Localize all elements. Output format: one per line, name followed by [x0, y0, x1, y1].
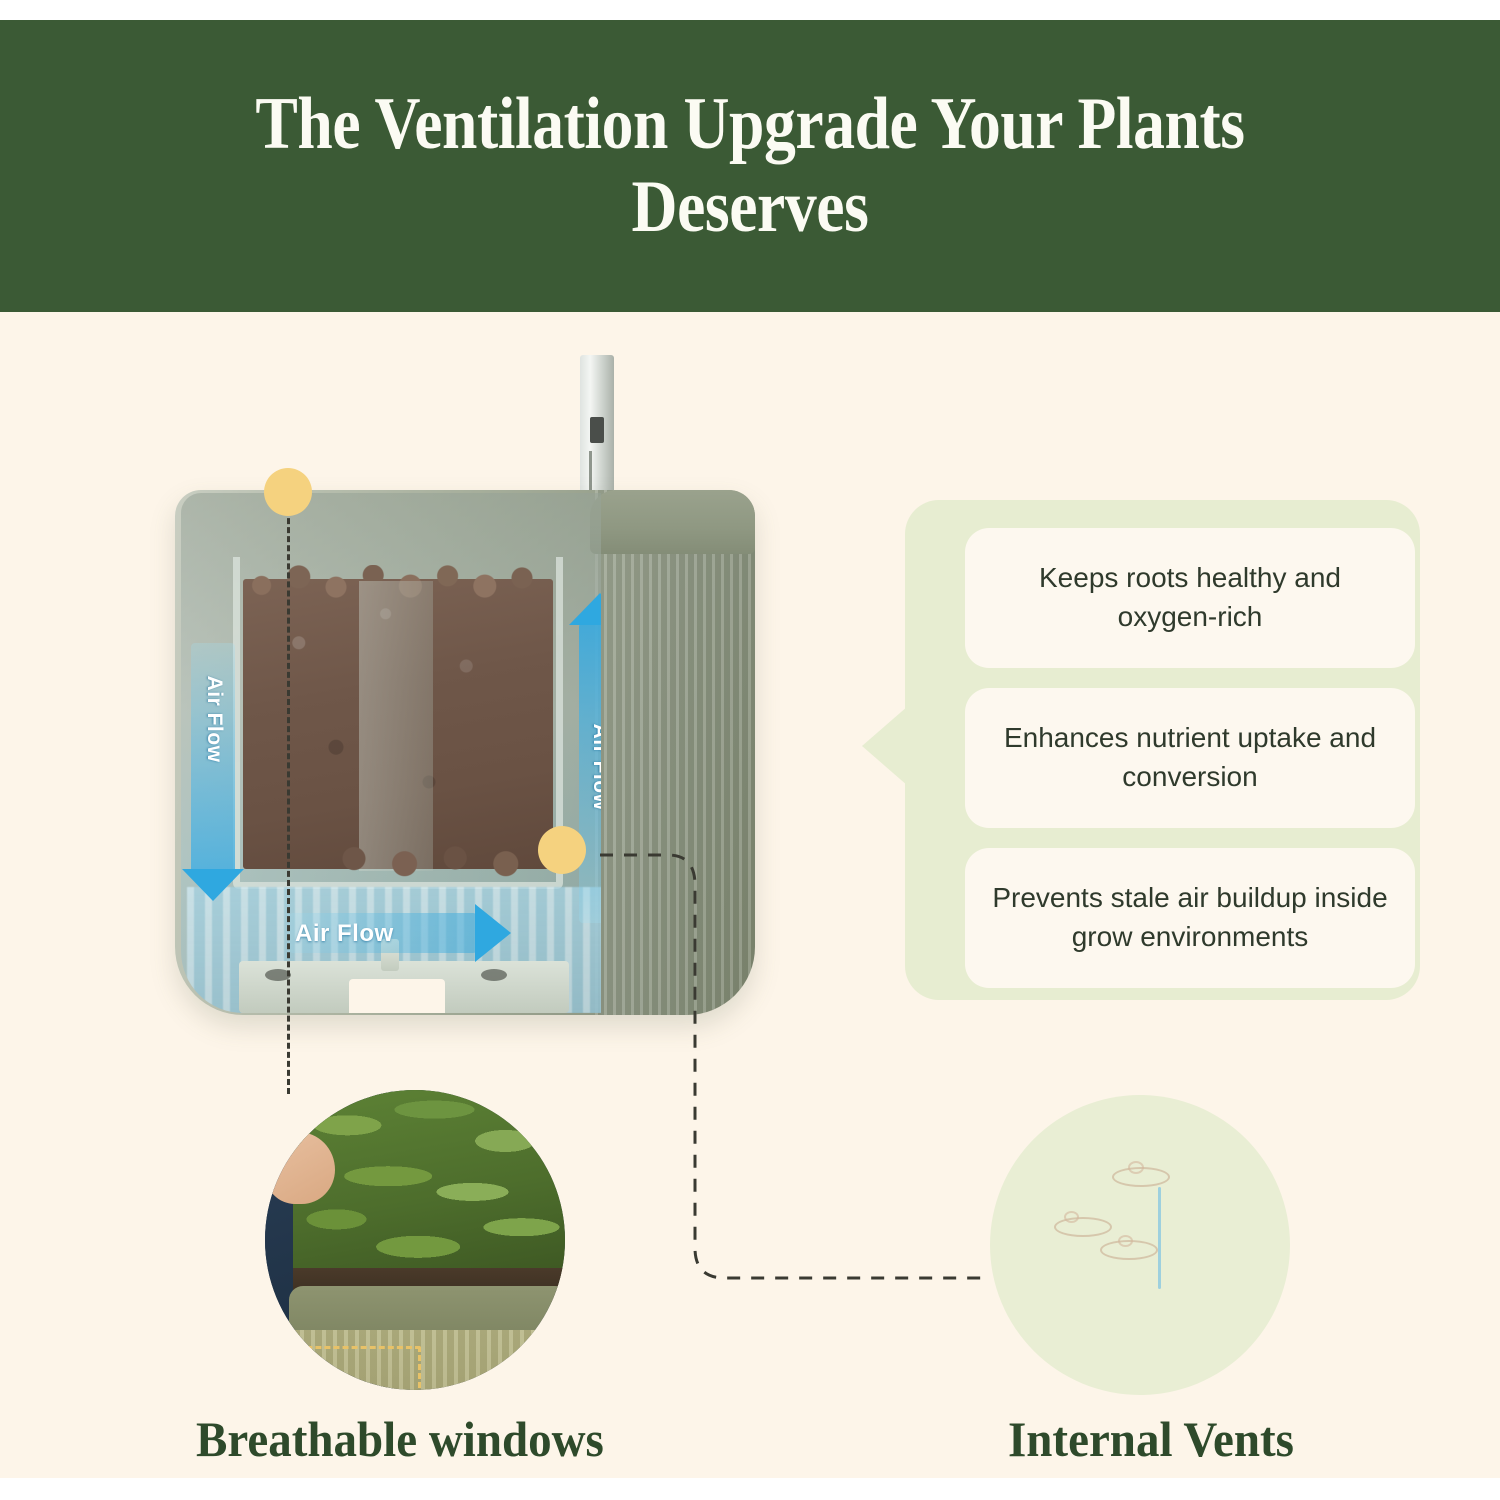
benefit-card-1[interactable]: Keeps roots healthy and oxygen-rich	[965, 528, 1415, 668]
air-flow-arrow-right: Air Flow	[579, 623, 601, 923]
bottom-margin	[0, 1478, 1500, 1500]
inner-liner	[233, 557, 563, 889]
photo-rosemary-foliage	[293, 1090, 565, 1286]
infographic-page: The Ventilation Upgrade Your Plants Dese…	[0, 0, 1500, 1500]
vent-divider-line	[1158, 1187, 1161, 1289]
air-flow-label-left: Air Flow	[202, 644, 226, 794]
breathable-windows-photo	[265, 1090, 565, 1390]
arrow-up-icon	[569, 593, 601, 625]
marker-dot-internal-vents	[538, 826, 586, 874]
planter-rim	[590, 490, 755, 554]
base-notch	[349, 979, 445, 1013]
planter-cutaway-view: Air Flow Air Flow Air Flow	[181, 493, 601, 1013]
caption-breathable-windows: Breathable windows	[196, 1410, 604, 1468]
benefit-card-2-text: Enhances nutrient uptake and conversion	[991, 719, 1389, 796]
planter-rib-texture	[595, 490, 755, 1015]
air-flow-label-right: Air Flow	[588, 686, 601, 848]
callout-pointer-icon	[862, 706, 908, 786]
vent-bubble-icon-3	[1118, 1235, 1133, 1247]
photo-planter-rim	[289, 1286, 565, 1336]
arrow-down-icon	[182, 869, 244, 901]
photo-highlight-box	[265, 1346, 421, 1390]
photo-hand	[265, 1132, 335, 1204]
internal-vents-graphic	[990, 1095, 1290, 1395]
planter-illustration: Air Flow Air Flow Air Flow	[175, 355, 775, 1045]
page-title: The Ventilation Upgrade Your Plants Dese…	[234, 83, 1266, 249]
base-vent-hole-right-icon	[481, 969, 507, 981]
vent-bubble-icon-1	[1128, 1161, 1144, 1174]
vent-bubble-icon-2	[1064, 1211, 1079, 1223]
benefit-card-3-text: Prevents stale air buildup inside grow e…	[991, 879, 1389, 956]
air-flow-arrow-bottom: Air Flow	[289, 913, 477, 953]
connector-breathable-windows	[287, 500, 290, 1094]
vent-opening-icon-2	[1054, 1217, 1112, 1237]
moisture-probe-icon	[580, 355, 614, 505]
benefit-card-1-text: Keeps roots healthy and oxygen-rich	[991, 559, 1389, 636]
arrow-right-icon	[475, 904, 511, 962]
benefit-card-3[interactable]: Prevents stale air buildup inside grow e…	[965, 848, 1415, 988]
air-flow-arrow-left: Air Flow	[191, 643, 235, 873]
benefit-card-2[interactable]: Enhances nutrient uptake and conversion	[965, 688, 1415, 828]
marker-dot-breathable-windows	[264, 468, 312, 516]
air-flow-label-bottom: Air Flow	[295, 920, 394, 948]
header-band: The Ventilation Upgrade Your Plants Dese…	[0, 20, 1500, 312]
caption-internal-vents: Internal Vents	[1008, 1410, 1294, 1468]
